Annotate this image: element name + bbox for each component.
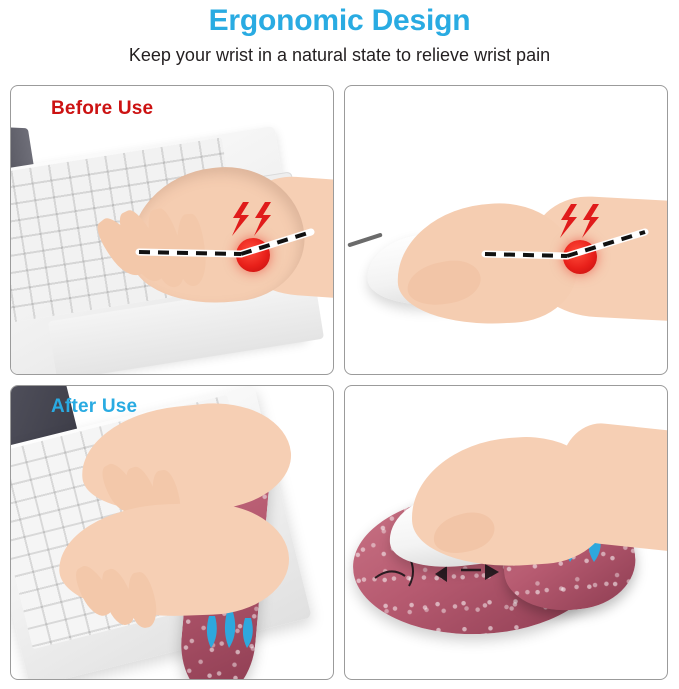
pain-bolt-icon <box>229 202 285 238</box>
panel-before-keyboard: Before Use <box>10 85 334 375</box>
panel-after-keyboard-scene: After Use <box>11 386 333 679</box>
blue-feather-icon <box>207 612 253 648</box>
badge-after-use: After Use <box>51 396 137 418</box>
panel-before-mouse-scene <box>345 86 667 374</box>
page-header: Ergonomic Design Keep your wrist in a na… <box>0 0 679 67</box>
page-subtitle: Keep your wrist in a natural state to re… <box>0 43 679 67</box>
badge-before-use: Before Use <box>51 98 153 120</box>
wrist-pain-annotation <box>345 86 667 374</box>
comparison-grid: Before Use <box>10 85 669 681</box>
panel-after-mouse-scene <box>345 386 667 679</box>
panel-before-keyboard-scene: Before Use <box>11 86 333 374</box>
pain-bolt-icon <box>557 204 613 240</box>
panel-after-keyboard: After Use <box>10 385 334 680</box>
panel-after-mouse <box>344 385 668 680</box>
panel-before-mouse <box>344 85 668 375</box>
wrist-rest-feather-pattern-lower <box>193 604 273 679</box>
page-title: Ergonomic Design <box>0 4 679 38</box>
